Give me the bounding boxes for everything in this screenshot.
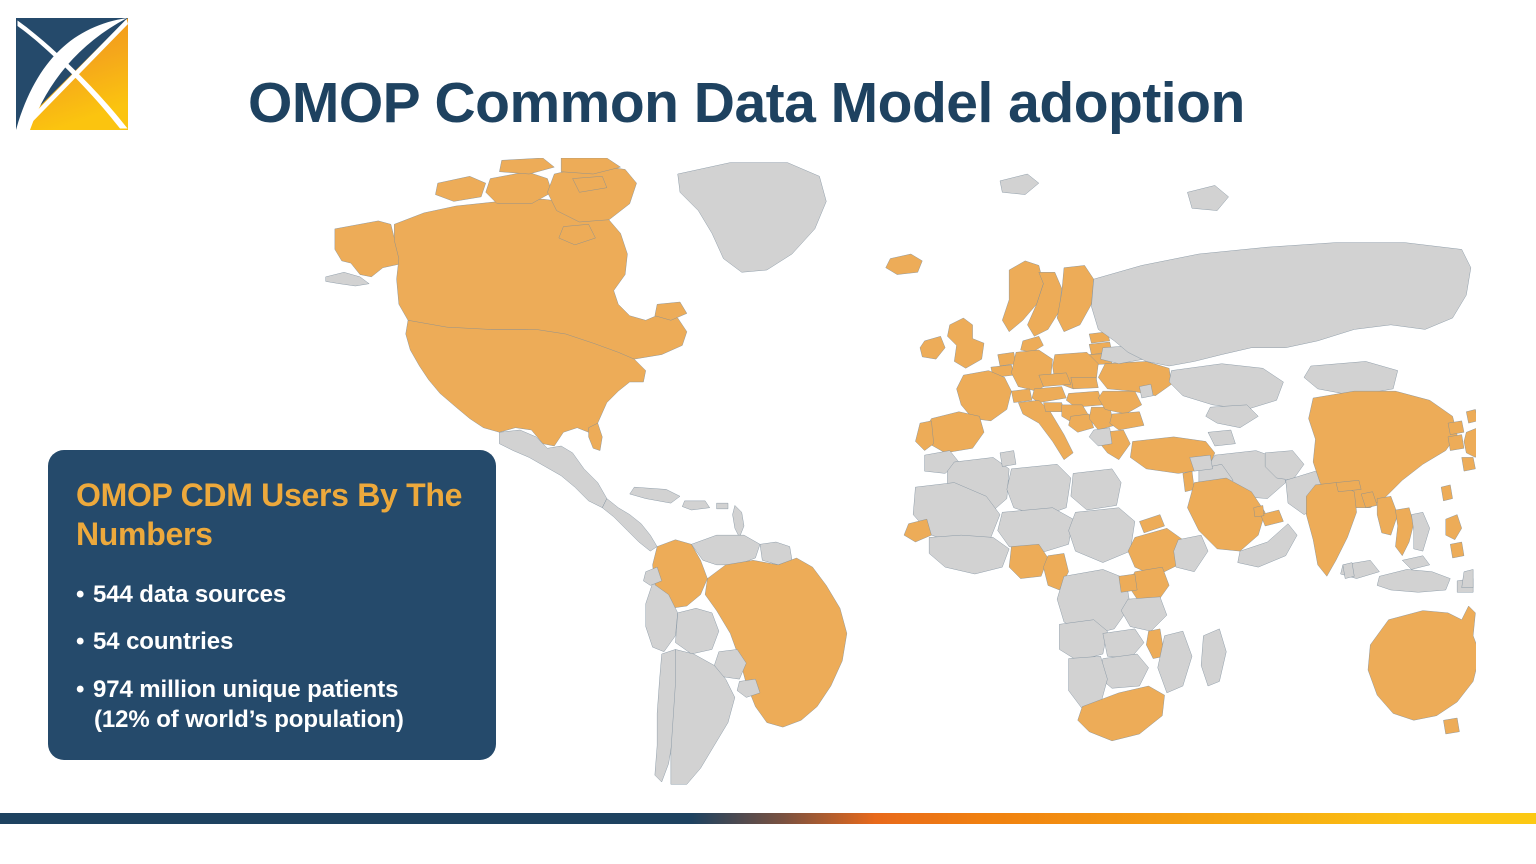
country-moldova — [1139, 384, 1153, 398]
country-vietnam — [1411, 512, 1429, 551]
island-melville — [499, 158, 554, 174]
country-georgia-armenia — [1208, 430, 1235, 446]
country-egypt — [1071, 469, 1121, 510]
island-novaya-zemlya — [1187, 185, 1228, 210]
country-thailand — [1395, 508, 1413, 556]
central-america — [602, 499, 657, 552]
country-russia — [1091, 243, 1470, 366]
country-zambia — [1103, 629, 1144, 659]
country-sudan — [1069, 508, 1135, 563]
country-slovenia — [1043, 403, 1064, 412]
country-slovakia — [1071, 377, 1098, 388]
stat-patients: 974 million unique patients — [93, 676, 398, 703]
country-tanzania — [1121, 597, 1167, 631]
country-switzerland — [1011, 389, 1032, 403]
country-finland — [1057, 265, 1094, 331]
island-new-guinea — [1462, 569, 1473, 587]
island-puerto-rico — [717, 503, 728, 509]
stat-patients-subtext: (12% of world’s population) — [93, 705, 468, 735]
stats-list: 544 data sources 54 countries 974 millio… — [76, 580, 468, 735]
stats-card: OMOP CDM Users By The Numbers 544 data s… — [48, 450, 496, 760]
country-united-kingdom — [947, 318, 984, 368]
country-iceland — [886, 254, 923, 275]
island-sri-lanka — [1343, 563, 1354, 579]
country-czechia — [1039, 373, 1071, 387]
country-austria — [1032, 387, 1066, 403]
country-south-korea — [1448, 435, 1464, 451]
lesser-antilles — [733, 505, 744, 537]
island-victoria — [486, 172, 552, 204]
island-hispaniola — [682, 501, 709, 510]
island-svalbard — [1000, 174, 1039, 195]
country-bulgaria — [1110, 412, 1144, 430]
country-qatar — [1254, 505, 1264, 516]
stat-data-sources: 544 data sources — [93, 581, 286, 608]
list-item: 974 million unique patients (12% of worl… — [76, 675, 468, 735]
country-uzbekistan — [1206, 405, 1259, 428]
country-portugal — [915, 421, 933, 451]
country-somalia — [1174, 535, 1208, 572]
list-item: 54 countries — [76, 627, 468, 657]
country-mongolia — [1304, 361, 1398, 395]
island-banks — [435, 176, 485, 201]
country-spain — [925, 412, 984, 453]
country-myanmar — [1377, 496, 1398, 535]
country-albania-macedonia — [1089, 428, 1112, 446]
country-ireland — [920, 336, 945, 359]
country-senegal — [904, 519, 931, 542]
list-item: 544 data sources — [76, 580, 468, 610]
island-cuba — [630, 487, 680, 503]
country-japan — [1462, 409, 1476, 471]
country-nigeria — [1009, 544, 1048, 578]
country-philippines — [1446, 515, 1464, 558]
country-taiwan — [1441, 485, 1452, 501]
footer-accent-bar — [0, 813, 1536, 824]
country-angola — [1059, 620, 1107, 661]
country-kazakhstan — [1169, 364, 1283, 410]
country-mozambique — [1158, 631, 1192, 693]
country-australia — [1368, 606, 1476, 720]
country-madagascar — [1201, 629, 1226, 686]
country-bolivia — [675, 608, 718, 654]
country-malaysia — [1402, 556, 1429, 570]
ohdsi-logo — [8, 10, 138, 138]
west-africa-coast — [929, 535, 1009, 574]
country-tunisia — [1000, 451, 1016, 467]
stat-countries: 54 countries — [93, 628, 233, 655]
page-title: OMOP Common Data Model adoption — [248, 74, 1388, 134]
country-north-korea — [1448, 421, 1464, 435]
country-denmark — [1021, 336, 1044, 352]
country-nepal — [1336, 480, 1361, 491]
country-ukraine — [1098, 361, 1171, 395]
country-greenland — [678, 163, 827, 273]
country-venezuela — [691, 535, 760, 565]
country-india — [1306, 483, 1356, 577]
stats-card-heading: OMOP CDM Users By The Numbers — [76, 476, 468, 554]
state-florida — [589, 423, 603, 450]
slide-root: OMOP Common Data Model adoption — [0, 0, 1536, 864]
state-tasmania — [1443, 718, 1459, 734]
country-uganda — [1119, 574, 1137, 592]
